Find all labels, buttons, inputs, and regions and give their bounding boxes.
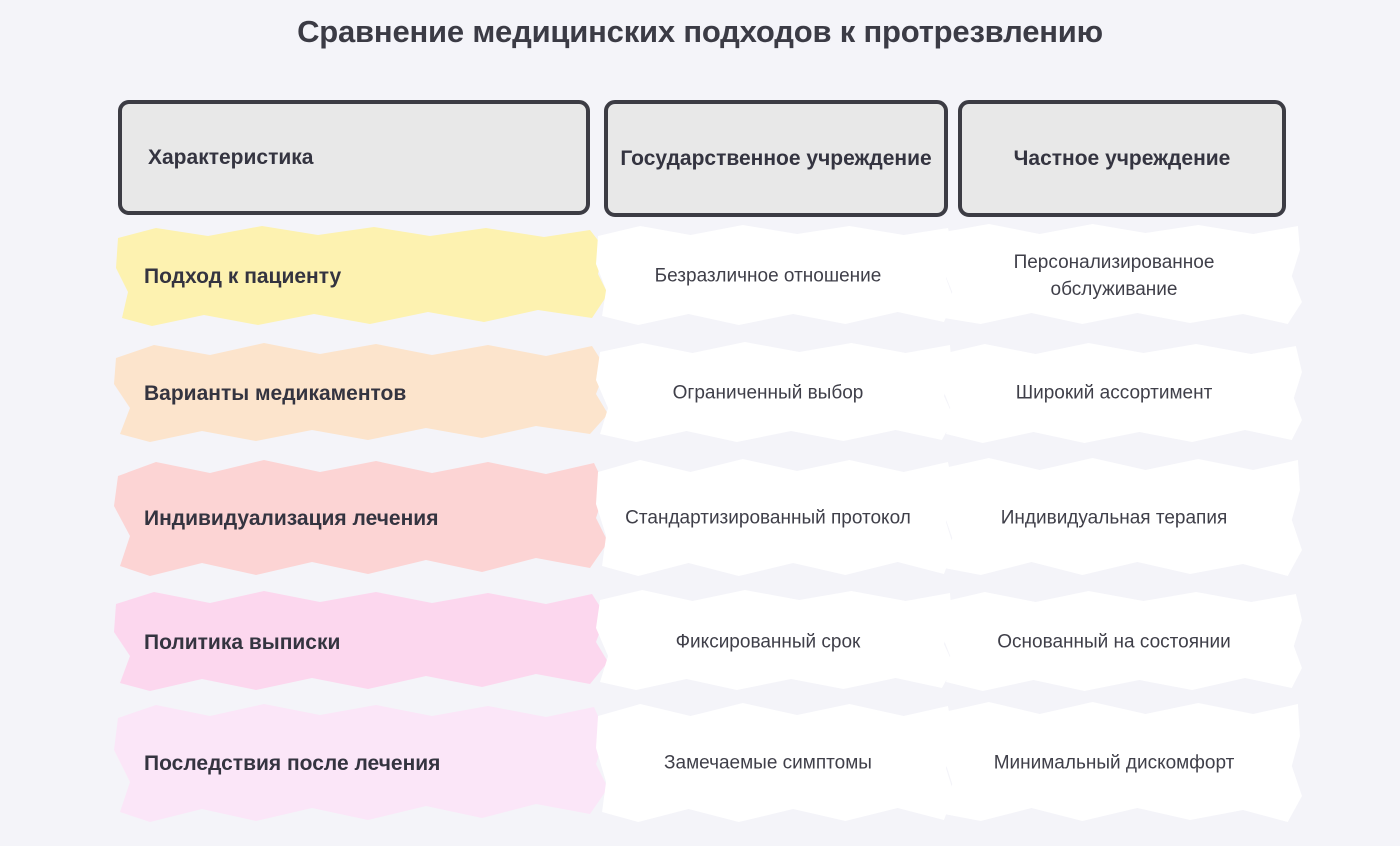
value-text-state: Ограниченный выбор — [608, 381, 928, 408]
header-cell-feature: Характеристика — [118, 100, 590, 215]
header-label-feature: Характеристика — [148, 144, 313, 172]
value-text-private: Основанный на состоянии — [952, 630, 1276, 657]
value-cell-private: Минимальный дискомфорт — [952, 700, 1276, 828]
value-text-state: Фиксированный срок — [608, 630, 928, 657]
value-cell-private: Широкий ассортимент — [952, 340, 1276, 448]
table-row: Подход к пациенту Безразличное отношение… — [0, 222, 1400, 332]
value-cell-private: Основанный на состоянии — [952, 588, 1276, 698]
table-row: Политика выписки Фиксированный срок Осно… — [0, 588, 1400, 698]
header-cell-private: Частное учреждение — [958, 100, 1286, 217]
feature-label: Индивидуализация лечения — [144, 505, 572, 533]
table-row: Индивидуализация лечения Стандартизирова… — [0, 456, 1400, 582]
value-cell-state: Фиксированный срок — [608, 588, 928, 698]
header-cell-state: Государственное учреждение — [604, 100, 948, 217]
value-text-private: Минимальный дискомфорт — [952, 751, 1276, 778]
value-cell-private: Индивидуальная терапия — [952, 456, 1276, 582]
value-text-private: Индивидуальная терапия — [952, 506, 1276, 533]
feature-label: Подход к пациенту — [144, 263, 572, 291]
header-label-state: Государственное учреждение — [620, 145, 931, 173]
feature-cell: Индивидуализация лечения — [112, 456, 612, 582]
feature-label: Политика выписки — [144, 629, 572, 657]
value-text-state: Стандартизированный протокол — [608, 506, 928, 533]
table-row: Варианты медикаментов Ограниченный выбор… — [0, 340, 1400, 448]
value-cell-state: Ограниченный выбор — [608, 340, 928, 448]
feature-cell: Последствия после лечения — [112, 700, 612, 828]
page-title: Сравнение медицинских подходов к протрез… — [0, 14, 1400, 50]
feature-label: Последствия после лечения — [144, 750, 572, 778]
feature-label: Варианты медикаментов — [144, 380, 572, 408]
value-text-private: Персонализированное обслуживание — [952, 250, 1276, 304]
comparison-table-page: Сравнение медицинских подходов к протрез… — [0, 0, 1400, 846]
value-cell-private: Персонализированное обслуживание — [952, 222, 1276, 332]
feature-cell: Политика выписки — [112, 588, 612, 698]
feature-cell: Подход к пациенту — [112, 222, 612, 332]
value-text-state: Безразличное отношение — [608, 264, 928, 291]
value-cell-state: Безразличное отношение — [608, 222, 928, 332]
feature-cell: Варианты медикаментов — [112, 340, 612, 448]
value-cell-state: Стандартизированный протокол — [608, 456, 928, 582]
header-label-private: Частное учреждение — [1014, 145, 1231, 173]
value-cell-state: Замечаемые симптомы — [608, 700, 928, 828]
value-text-state: Замечаемые симптомы — [608, 751, 928, 778]
value-text-private: Широкий ассортимент — [952, 381, 1276, 408]
table-row: Последствия после лечения Замечаемые сим… — [0, 700, 1400, 828]
